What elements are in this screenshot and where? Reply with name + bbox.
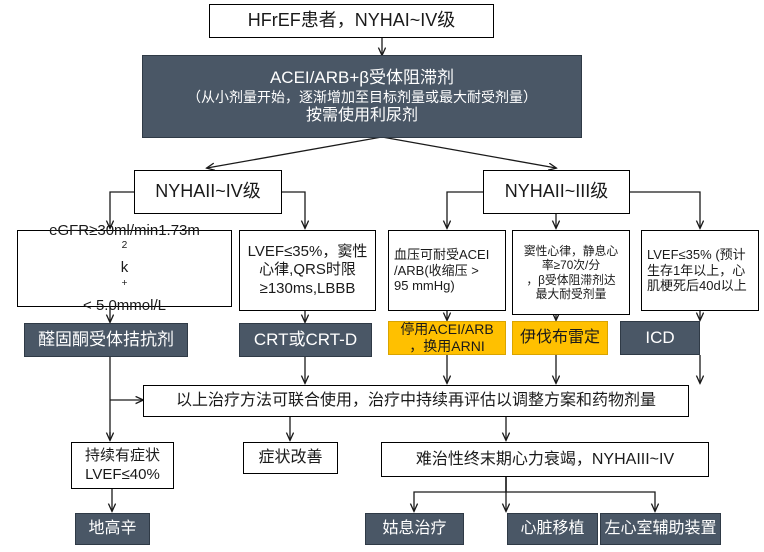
node-nyha-class-left-label: NYHAII~IV级	[135, 181, 281, 203]
node-refractory-hf[interactable]: 难治性终末期心力衰竭，NYHAIII~IV	[381, 442, 709, 477]
node-heart-transplant-label: 心脏移植	[508, 519, 597, 539]
node-criteria-icd[interactable]: LVEF≤35% (预计 生存1年以上，心 肌梗死后40d以上	[641, 230, 759, 311]
node-patient[interactable]: HFrEF患者，NYHAI~IV级	[209, 4, 494, 38]
node-treatment-arni[interactable]: 停用ACEI/ARB ，换用ARNI	[388, 321, 506, 355]
node-treatment-crt[interactable]: CRT或CRT-D	[239, 323, 372, 357]
node-initial-therapy[interactable]: ACEI/ARB+β受体阻滞剂 （从小剂量开始，逐渐增加至目标剂量或最大耐受剂量…	[142, 55, 582, 138]
flowchart-canvas: HFrEF患者，NYHAI~IV级 ACEI/ARB+β受体阻滞剂 （从小剂量开…	[0, 0, 764, 552]
node-criteria-mra-line1: eGFR≥30ml/min1.73m2	[18, 222, 231, 260]
node-criteria-mra[interactable]: eGFR≥30ml/min1.73m2 k+ < 5.0mmol/L	[17, 230, 232, 307]
node-criteria-arni-label: 血压可耐受ACEI /ARB(收缩压 > 95 mmHg)	[394, 247, 500, 295]
node-heart-transplant[interactable]: 心脏移植	[507, 513, 598, 545]
node-digoxin[interactable]: 地高辛	[75, 513, 150, 545]
node-criteria-crt[interactable]: LVEF≤35%，窦性 心律,QRS时限 ≥130ms,LBBB	[239, 230, 376, 311]
node-patient-label: HFrEF患者，NYHAI~IV级	[210, 10, 493, 32]
node-criteria-ivabradine-label: 窦性心律，静息心 率≥70次/分 ，β受体阻滞剂达 最大耐受剂量	[516, 244, 626, 302]
node-nyha-class-right[interactable]: NYHAII~III级	[483, 170, 630, 214]
node-persistent-symptoms[interactable]: 持续有症状 LVEF≤40%	[71, 442, 174, 489]
node-nyha-class-left[interactable]: NYHAII~IV级	[134, 170, 282, 214]
node-treatment-ivabradine-label: 伊伐布雷定	[513, 328, 607, 348]
node-criteria-crt-label: LVEF≤35%，窦性 心律,QRS时限 ≥130ms,LBBB	[240, 243, 375, 298]
node-refractory-hf-label: 难治性终末期心力衰竭，NYHAIII~IV	[382, 450, 708, 470]
node-nyha-class-right-label: NYHAII~III级	[484, 181, 629, 203]
node-treatment-crt-label: CRT或CRT-D	[240, 330, 371, 351]
node-lvad-label: 左心室辅助装置	[601, 519, 720, 539]
node-initial-therapy-line2: （从小剂量开始，逐渐增加至目标剂量或最大耐受剂量）	[143, 89, 581, 106]
node-lvad[interactable]: 左心室辅助装置	[600, 513, 721, 545]
node-treatment-mra-label: 醛固酮受体拮抗剂	[25, 330, 187, 351]
node-treatment-arni-label: 停用ACEI/ARB ，换用ARNI	[389, 321, 505, 355]
node-persistent-symptoms-label: 持续有症状 LVEF≤40%	[72, 447, 173, 484]
node-combined-therapy-label: 以上治疗方法可联合使用，治疗中持续再评估以调整方案和药物剂量	[144, 391, 688, 411]
node-treatment-ivabradine[interactable]: 伊伐布雷定	[512, 321, 608, 355]
node-combined-therapy[interactable]: 以上治疗方法可联合使用，治疗中持续再评估以调整方案和药物剂量	[143, 385, 689, 417]
node-treatment-mra[interactable]: 醛固酮受体拮抗剂	[24, 323, 188, 357]
node-digoxin-label: 地高辛	[76, 519, 149, 539]
node-palliative-care-label: 姑息治疗	[366, 519, 463, 539]
node-criteria-icd-label: LVEF≤35% (预计 生存1年以上，心 肌梗死后40d以上	[647, 247, 753, 295]
node-criteria-mra-line2: k+ < 5.0mmol/L	[18, 259, 231, 315]
node-symptoms-improved[interactable]: 症状改善	[243, 442, 338, 474]
node-treatment-icd-label: ICD	[621, 328, 699, 349]
node-initial-therapy-line3: 按需使用利尿剂	[143, 106, 581, 126]
node-criteria-arni[interactable]: 血压可耐受ACEI /ARB(收缩压 > 95 mmHg)	[388, 230, 506, 311]
node-criteria-ivabradine[interactable]: 窦性心律，静息心 率≥70次/分 ，β受体阻滞剂达 最大耐受剂量	[512, 230, 630, 315]
node-treatment-icd[interactable]: ICD	[620, 321, 700, 355]
node-initial-therapy-line1: ACEI/ARB+β受体阻滞剂	[143, 68, 581, 89]
node-palliative-care[interactable]: 姑息治疗	[365, 513, 464, 545]
node-symptoms-improved-label: 症状改善	[244, 448, 337, 468]
